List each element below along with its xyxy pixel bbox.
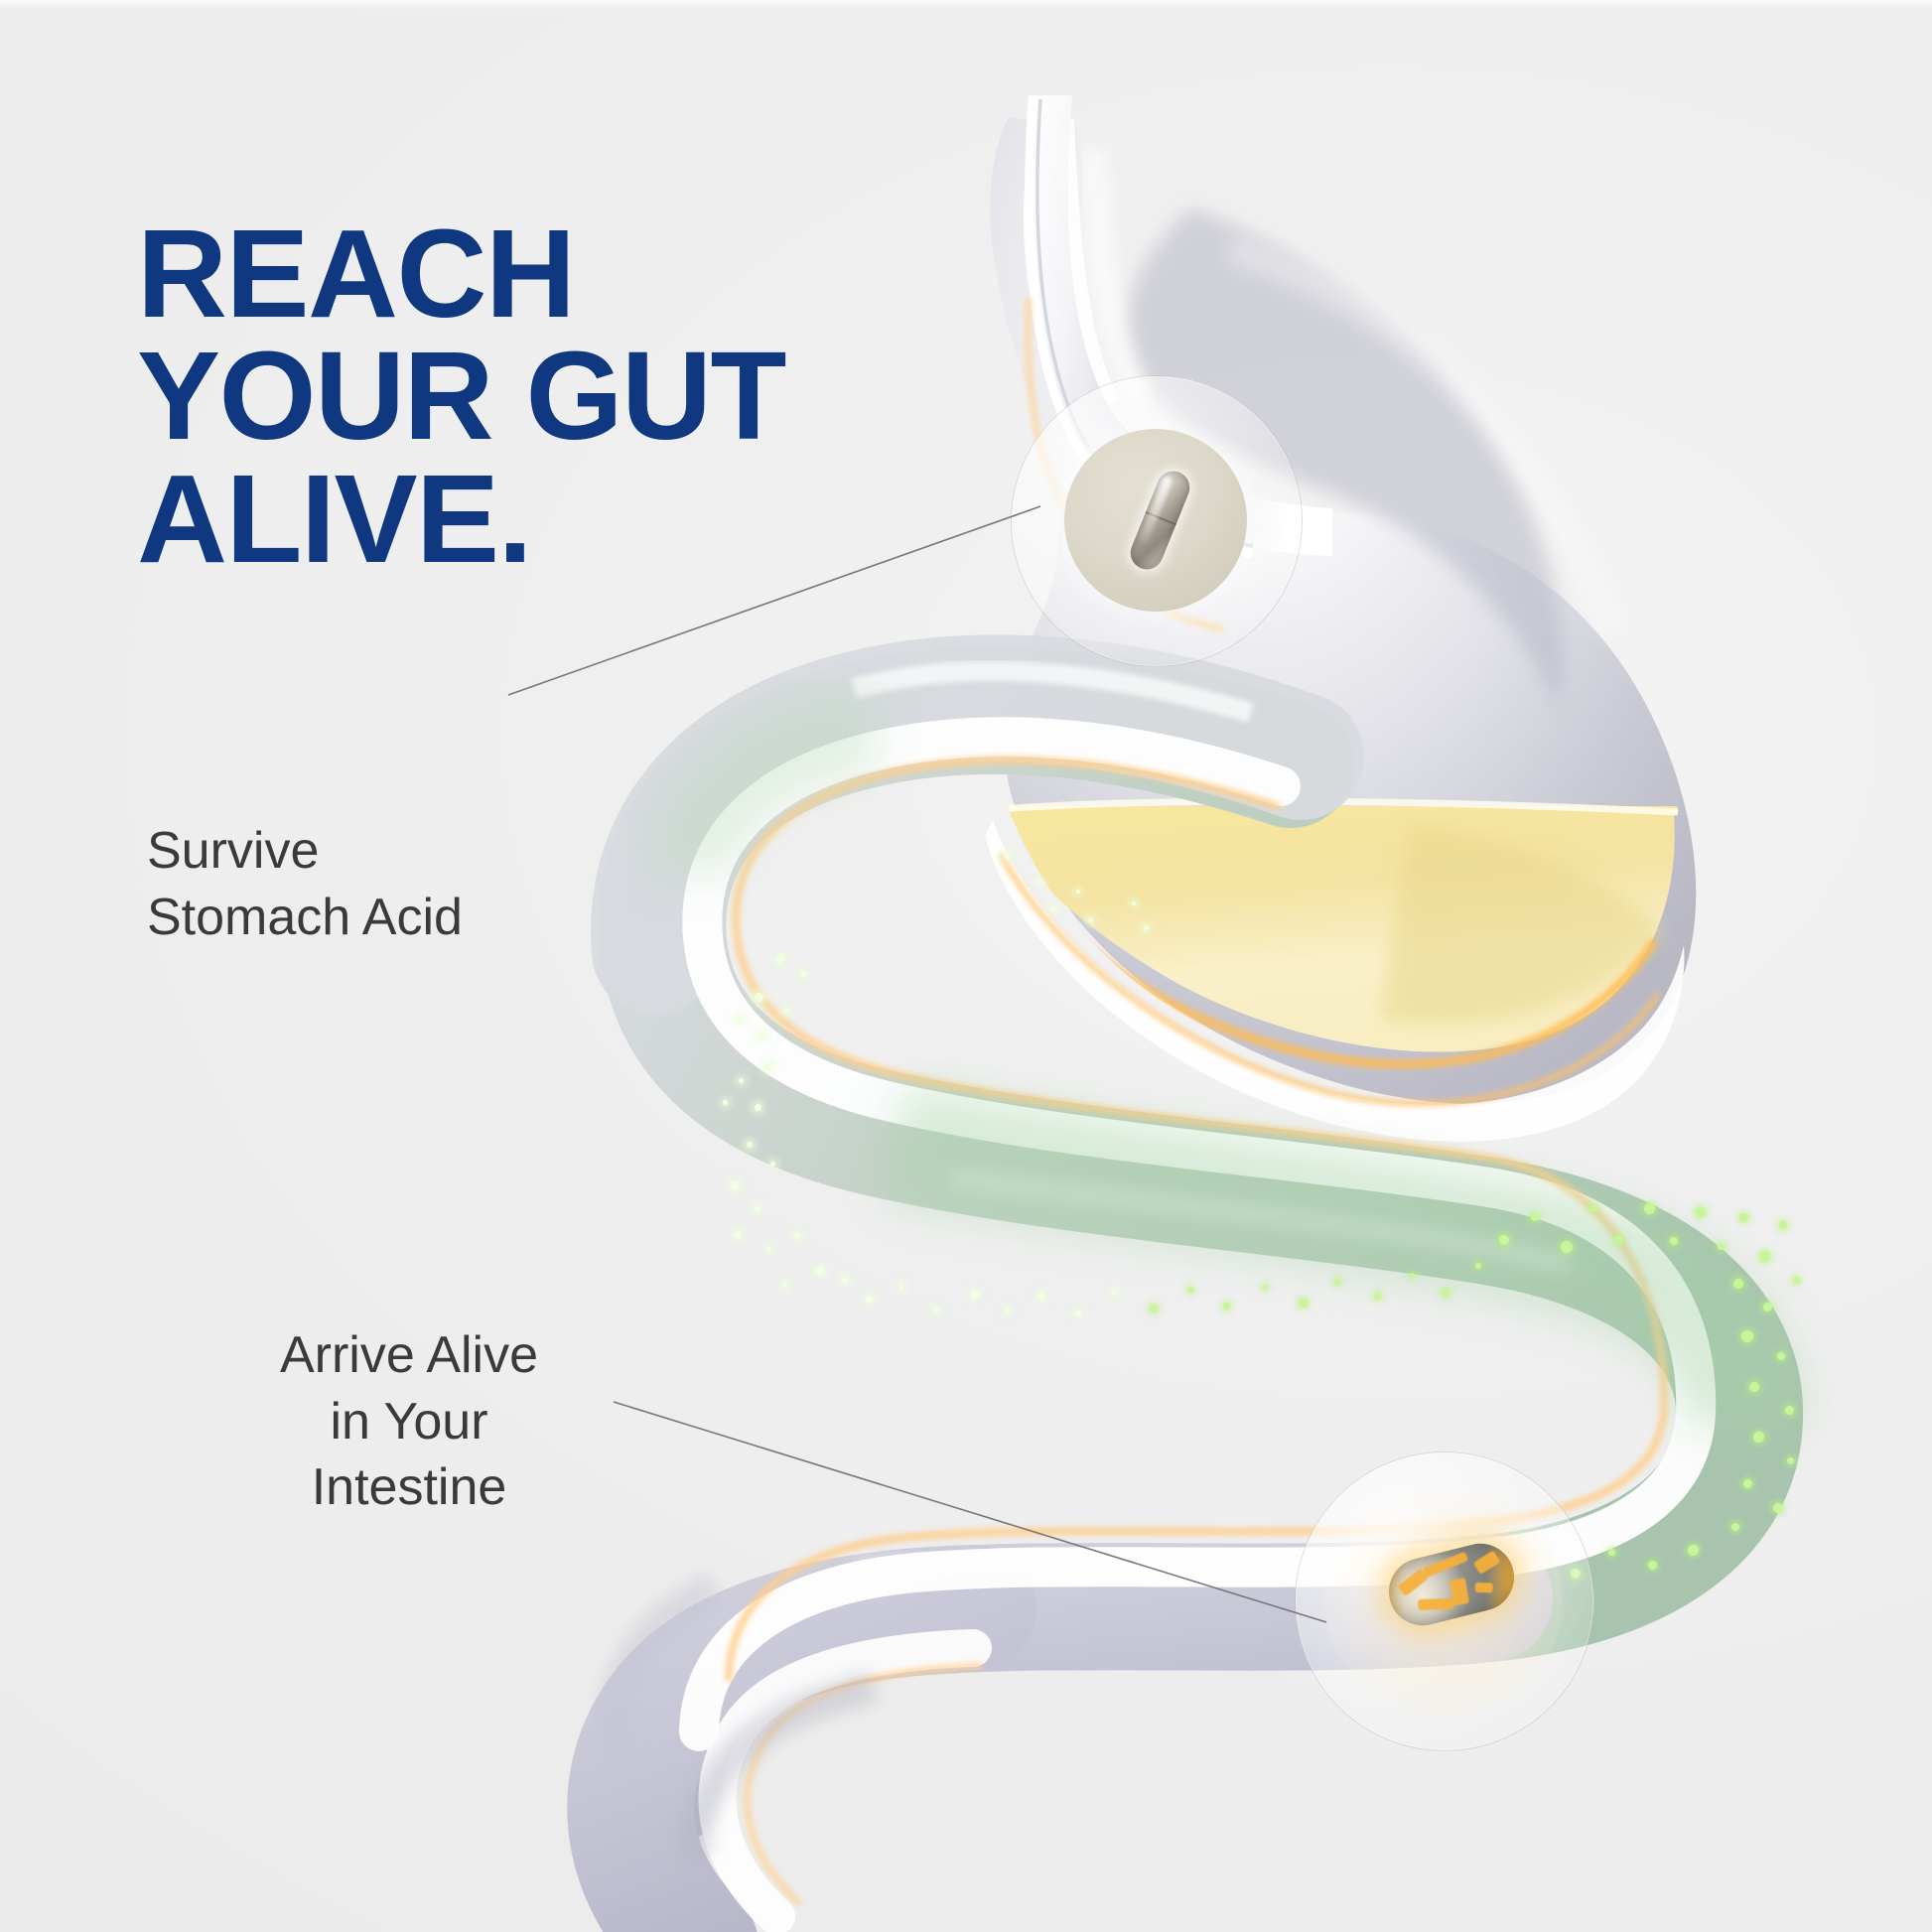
poster-canvas: REACH YOUR GUT ALIVE. Survive Stomach Ac… — [0, 0, 1932, 1932]
page-title: REACH YOUR GUT ALIVE. — [137, 212, 951, 580]
callout-label-survive-stomach-acid: Survive Stomach Acid — [147, 818, 463, 950]
callout-label-arrive-alive-in-your-intestine: Arrive Alive in Your Intestine — [230, 1322, 588, 1521]
